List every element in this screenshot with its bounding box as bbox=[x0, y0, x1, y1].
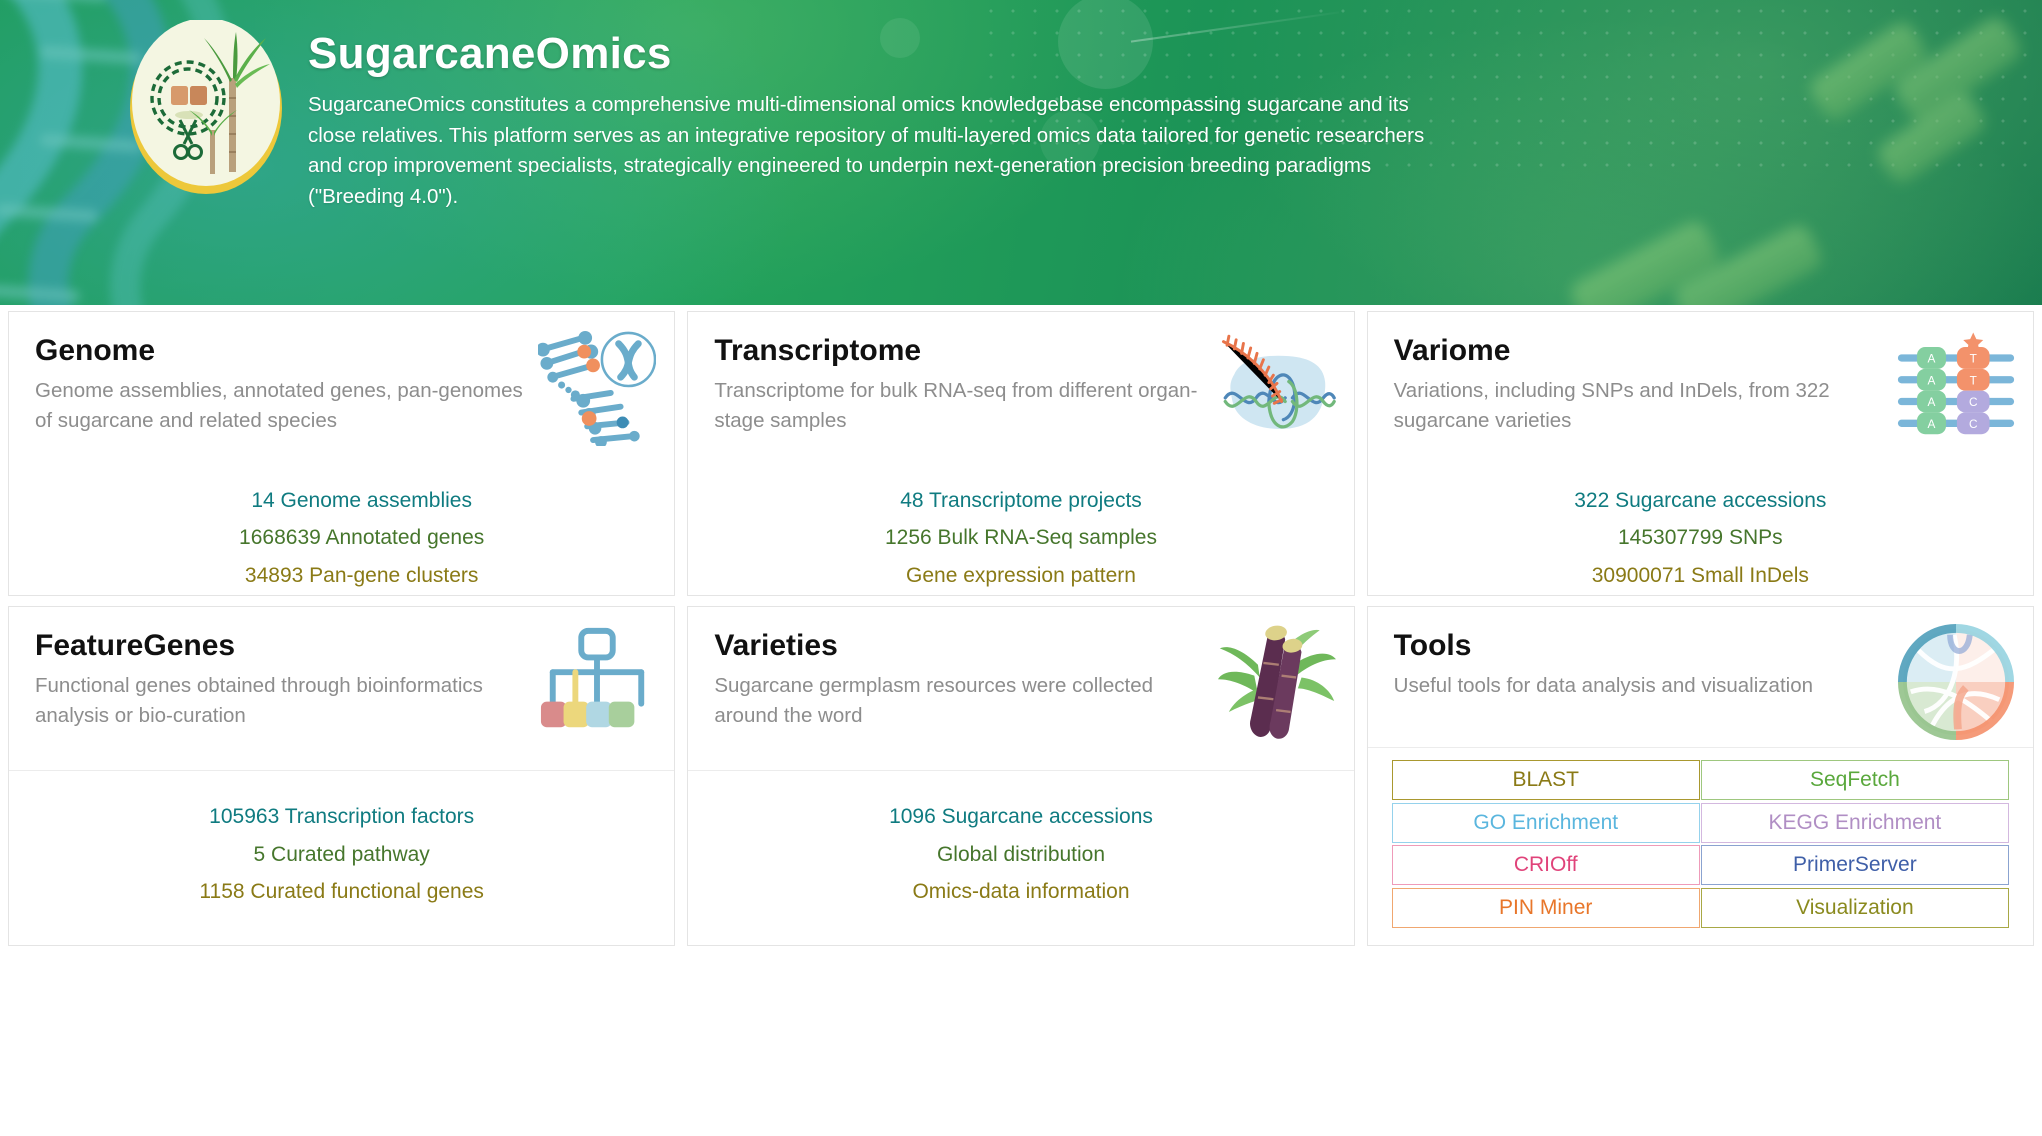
svg-text:A: A bbox=[1928, 395, 1936, 409]
tool-button-crioff[interactable]: CRIOff bbox=[1392, 845, 1700, 885]
site-description: SugarcaneOmics constitutes a comprehensi… bbox=[308, 90, 1438, 213]
card-featuregenes-header: FeatureGenes Functional genes obtained t… bbox=[9, 607, 674, 770]
tool-button-primerserver[interactable]: PrimerServer bbox=[1701, 845, 2009, 885]
card-varieties-stats: 1096 Sugarcane accessions Global distrib… bbox=[688, 771, 1353, 945]
tools-button-grid: BLAST SeqFetch GO Enrichment KEGG Enrich… bbox=[1368, 748, 2033, 945]
tool-button-kegg-enrichment[interactable]: KEGG Enrichment bbox=[1701, 803, 2009, 843]
stat-item[interactable]: 105963 Transcription factors bbox=[209, 802, 474, 832]
card-description: Genome assemblies, annotated genes, pan-… bbox=[35, 376, 535, 436]
svg-text:T: T bbox=[1970, 351, 1977, 365]
stat-item[interactable]: 1668639 Annotated genes bbox=[239, 523, 484, 553]
stat-item[interactable]: 30900071 Small InDels bbox=[1592, 561, 1809, 591]
tool-button-go-enrichment[interactable]: GO Enrichment bbox=[1392, 803, 1700, 843]
card-genome-stats: 14 Genome assemblies 1668639 Annotated g… bbox=[9, 472, 674, 596]
stat-item[interactable]: 48 Transcriptome projects bbox=[900, 486, 1142, 516]
module-card-grid: Genome Genome assemblies, annotated gene… bbox=[0, 305, 2042, 946]
stat-item[interactable]: Omics-data information bbox=[912, 877, 1129, 907]
svg-text:T: T bbox=[1970, 373, 1977, 387]
svg-text:C: C bbox=[1969, 395, 1978, 409]
page-title: SugarcaneOmics bbox=[308, 28, 1438, 80]
stat-item[interactable]: 1158 Curated functional genes bbox=[199, 877, 483, 907]
card-variome-stats: 322 Sugarcane accessions 145307799 SNPs … bbox=[1368, 472, 2033, 596]
card-varieties-header: Varieties Sugarcane germplasm resources … bbox=[688, 607, 1353, 770]
stat-item[interactable]: 5 Curated pathway bbox=[254, 840, 430, 870]
stat-item[interactable]: Gene expression pattern bbox=[906, 561, 1136, 591]
card-transcriptome-header: Transcriptome Transcriptome for bulk RNA… bbox=[688, 312, 1353, 472]
circos-plot-icon bbox=[1897, 623, 2015, 741]
sugarcane-stalks-icon bbox=[1218, 623, 1336, 741]
sugarcane-dna-emblem-icon bbox=[126, 20, 286, 196]
card-transcriptome-stats: 48 Transcriptome projects 1256 Bulk RNA-… bbox=[688, 472, 1353, 596]
card-description: Sugarcane germplasm resources were colle… bbox=[714, 671, 1214, 731]
rna-transcription-icon bbox=[1218, 328, 1336, 446]
svg-text:A: A bbox=[1928, 373, 1936, 387]
card-description: Variations, including SNPs and InDels, f… bbox=[1394, 376, 1894, 436]
card-genome-header: Genome Genome assemblies, annotated gene… bbox=[9, 312, 674, 472]
card-tools[interactable]: Tools Useful tools for data analysis and… bbox=[1367, 606, 2034, 946]
card-featuregenes-stats: 105963 Transcription factors 5 Curated p… bbox=[9, 771, 674, 945]
stat-item[interactable]: 1256 Bulk RNA-Seq samples bbox=[885, 523, 1157, 553]
tool-button-pin-miner[interactable]: PIN Miner bbox=[1392, 888, 1700, 928]
stat-item[interactable]: 145307799 SNPs bbox=[1618, 523, 1783, 553]
card-variome[interactable]: Variome Variations, including SNPs and I… bbox=[1367, 311, 2034, 596]
stat-item[interactable]: 1096 Sugarcane accessions bbox=[889, 802, 1153, 832]
card-variome-header: Variome Variations, including SNPs and I… bbox=[1368, 312, 2033, 472]
card-description: Functional genes obtained through bioinf… bbox=[35, 671, 535, 731]
dna-chromosome-icon bbox=[538, 328, 656, 446]
stat-item[interactable]: Global distribution bbox=[937, 840, 1105, 870]
card-featuregenes[interactable]: FeatureGenes Functional genes obtained t… bbox=[8, 606, 675, 946]
card-description: Transcriptome for bulk RNA-seq from diff… bbox=[714, 376, 1214, 436]
card-transcriptome[interactable]: Transcriptome Transcriptome for bulk RNA… bbox=[687, 311, 1354, 596]
tool-button-visualization[interactable]: Visualization bbox=[1701, 888, 2009, 928]
hierarchy-tree-icon bbox=[538, 623, 656, 741]
card-genome[interactable]: Genome Genome assemblies, annotated gene… bbox=[8, 311, 675, 596]
card-tools-header: Tools Useful tools for data analysis and… bbox=[1368, 607, 2033, 747]
snp-alleles-icon: A A A A T T C C bbox=[1897, 328, 2015, 446]
svg-text:A: A bbox=[1928, 351, 1936, 365]
stat-item[interactable]: 14 Genome assemblies bbox=[251, 486, 472, 516]
stat-item[interactable]: 34893 Pan-gene clusters bbox=[245, 561, 479, 591]
card-description: Useful tools for data analysis and visua… bbox=[1394, 671, 1894, 701]
svg-text:A: A bbox=[1928, 417, 1936, 431]
card-varieties[interactable]: Varieties Sugarcane germplasm resources … bbox=[687, 606, 1354, 946]
stat-item[interactable]: 322 Sugarcane accessions bbox=[1574, 486, 1826, 516]
tool-button-blast[interactable]: BLAST bbox=[1392, 760, 1700, 800]
svg-text:C: C bbox=[1969, 417, 1978, 431]
tool-button-seqfetch[interactable]: SeqFetch bbox=[1701, 760, 2009, 800]
site-header-banner: SugarcaneOmics SugarcaneOmics constitute… bbox=[0, 0, 2042, 305]
